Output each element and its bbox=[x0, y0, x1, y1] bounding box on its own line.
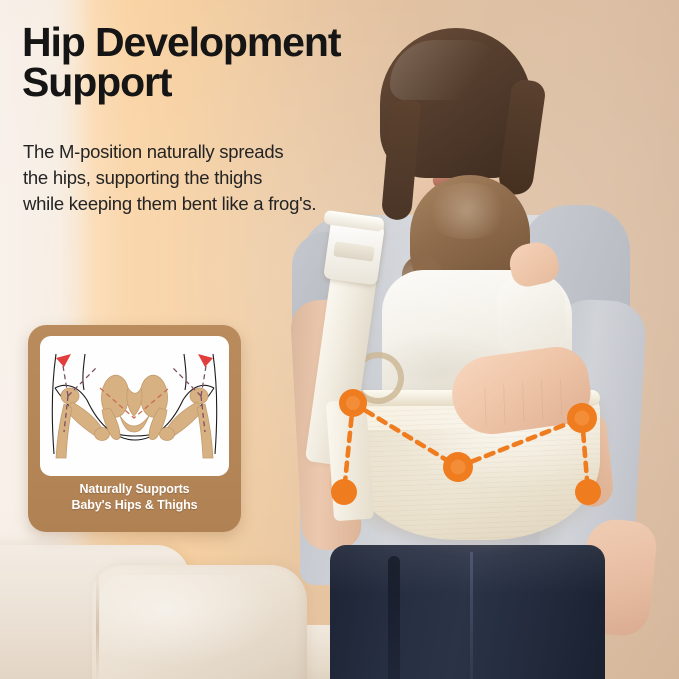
hip-diagram-image bbox=[40, 336, 229, 476]
trousers-crease bbox=[470, 552, 473, 679]
pelvis-femur-diagram-svg bbox=[40, 336, 229, 476]
sofa-cushion bbox=[92, 565, 307, 679]
caption-line-2: Baby's Hips & Thighs bbox=[28, 497, 241, 513]
product-feature-image: Hip Development Support The M-position n… bbox=[0, 0, 679, 679]
subcopy-line-1: The M-position naturally spreads bbox=[23, 139, 373, 165]
mother-navy-trousers bbox=[330, 545, 605, 679]
subcopy-line-2: the hips, supporting the thighs bbox=[23, 165, 373, 191]
headline-line-2: Support bbox=[22, 62, 422, 102]
trousers-inner-shadow bbox=[388, 556, 400, 679]
description-text: The M-position naturally spreads the hip… bbox=[23, 139, 373, 217]
hip-diagram-card: Naturally Supports Baby's Hips & Thighs bbox=[28, 325, 241, 532]
page-title: Hip Development Support bbox=[22, 22, 422, 102]
caption-line-1: Naturally Supports bbox=[28, 481, 241, 497]
headline-line-1: Hip Development bbox=[22, 22, 422, 62]
carrier-strap-tail bbox=[326, 399, 374, 521]
subcopy-line-3: while keeping them bent like a frog's. bbox=[23, 191, 373, 217]
hip-diagram-caption: Naturally Supports Baby's Hips & Thighs bbox=[28, 481, 241, 513]
arrow-marker bbox=[56, 354, 213, 367]
sofa-cushion-seam bbox=[96, 572, 99, 679]
